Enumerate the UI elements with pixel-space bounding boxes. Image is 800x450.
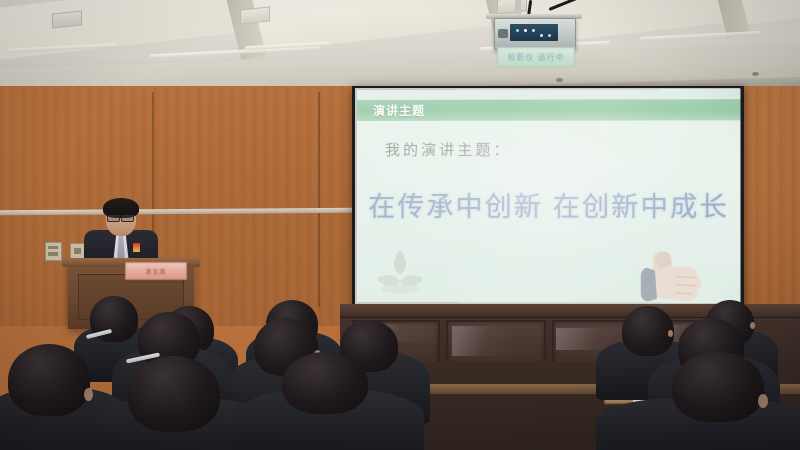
conference-hall-photo: 演讲主题 我的演讲主题： 在传承中创新 在创新中成长 <box>0 0 800 450</box>
projector-led-icon <box>524 29 527 32</box>
lapel-pin-icon <box>133 243 140 252</box>
projector-status-label: 投影仪 运行中 <box>497 47 575 67</box>
projector-control-panel <box>510 24 558 41</box>
projector-led-icon <box>516 29 519 32</box>
air-vent-icon <box>52 10 82 28</box>
slide-main-heading: 在传承中创新 在创新中成长 <box>357 185 740 224</box>
wall-seam <box>318 92 320 307</box>
slide-title-text: 演讲主题 <box>373 102 425 119</box>
slide-subtitle: 我的演讲主题： <box>385 139 512 160</box>
wall-panel <box>446 320 546 368</box>
wall-switch-plate[interactable] <box>45 242 62 261</box>
slide-body: 我的演讲主题： 在传承中创新 在创新中成长 <box>357 120 740 303</box>
projector-led-icon <box>540 34 543 37</box>
projector-lens-icon <box>498 29 508 38</box>
projector-led-icon <box>532 29 535 32</box>
strip-light <box>640 31 760 41</box>
projector-led-icon <box>548 34 551 37</box>
wall-column-right <box>744 86 800 326</box>
podium-sign: 发言席 <box>125 262 187 280</box>
air-vent-icon <box>240 6 270 24</box>
slide-title-bar: 演讲主题 <box>357 99 740 121</box>
eyeglasses-icon <box>121 215 134 222</box>
eyeglasses-icon <box>107 215 120 222</box>
thumbs-up-icon <box>641 246 714 303</box>
projection-screen: 演讲主题 我的演讲主题： 在传承中创新 在创新中成长 <box>357 89 740 303</box>
lotus-leaf-icon <box>373 248 427 296</box>
